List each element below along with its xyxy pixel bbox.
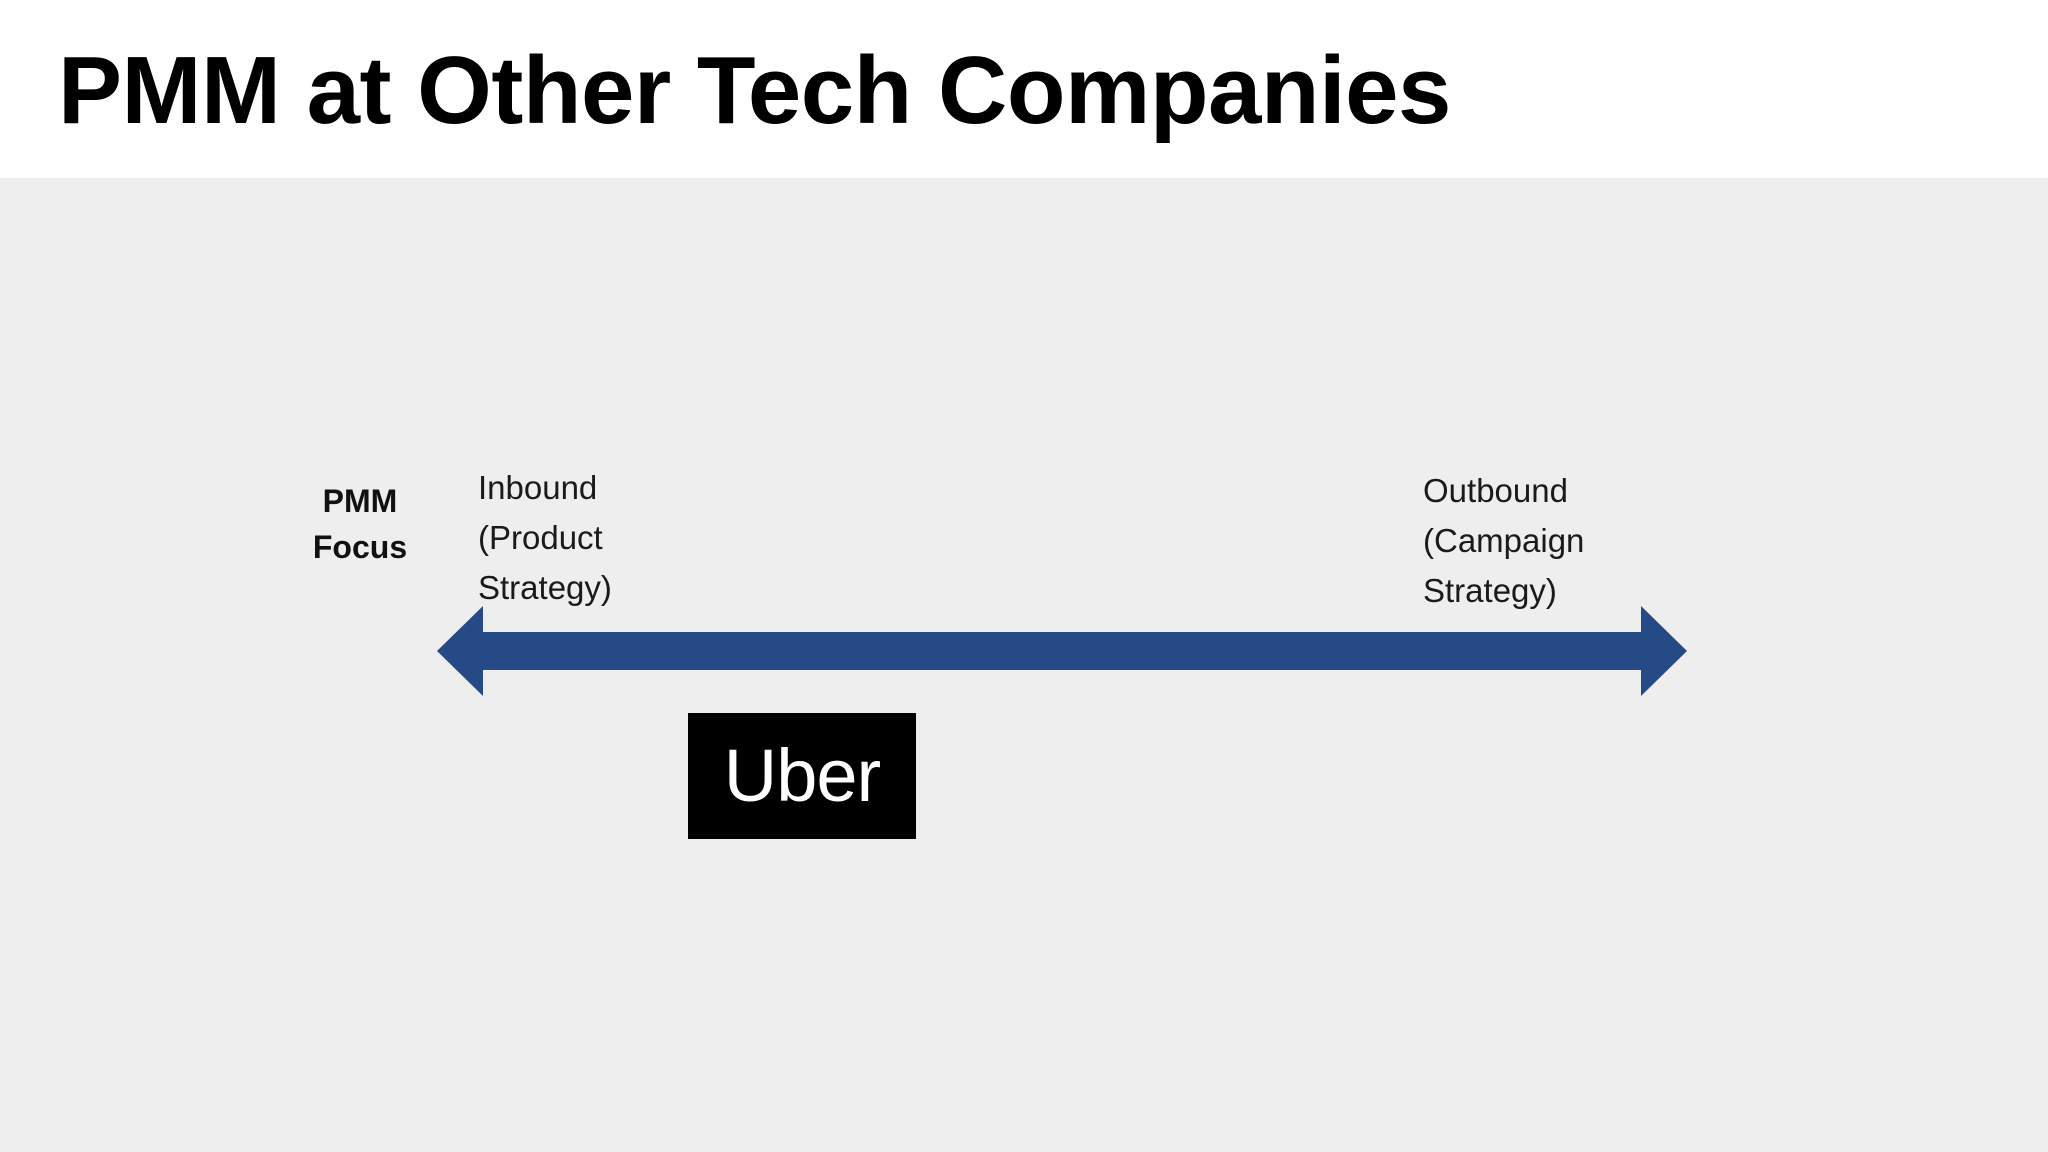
inbound-label-line-2: (Product	[478, 513, 612, 563]
pmm-focus-label-line-1: PMM	[280, 478, 440, 524]
page-title: PMM at Other Tech Companies	[58, 36, 1451, 146]
outbound-label-line-1: Outbound	[1423, 466, 1584, 516]
outbound-label-line-2: (Campaign	[1423, 516, 1584, 566]
inbound-end-label: Inbound (Product Strategy)	[478, 463, 612, 613]
pmm-focus-axis-label: PMM Focus	[280, 478, 440, 570]
company-logo-uber: Uber	[688, 713, 916, 839]
double-arrow-shape	[437, 606, 1687, 696]
uber-wordmark-text: Uber	[724, 739, 880, 813]
double-arrow-icon	[437, 606, 1687, 696]
slide-title-band: PMM at Other Tech Companies	[0, 0, 2048, 178]
outbound-end-label: Outbound (Campaign Strategy)	[1423, 466, 1584, 616]
inbound-label-line-1: Inbound	[478, 463, 612, 513]
pmm-focus-spectrum-diagram: PMM Focus Inbound (Product Strategy) Out…	[0, 178, 2048, 1152]
pmm-focus-label-line-2: Focus	[280, 524, 440, 570]
slide-body: PMM Focus Inbound (Product Strategy) Out…	[0, 178, 2048, 1152]
